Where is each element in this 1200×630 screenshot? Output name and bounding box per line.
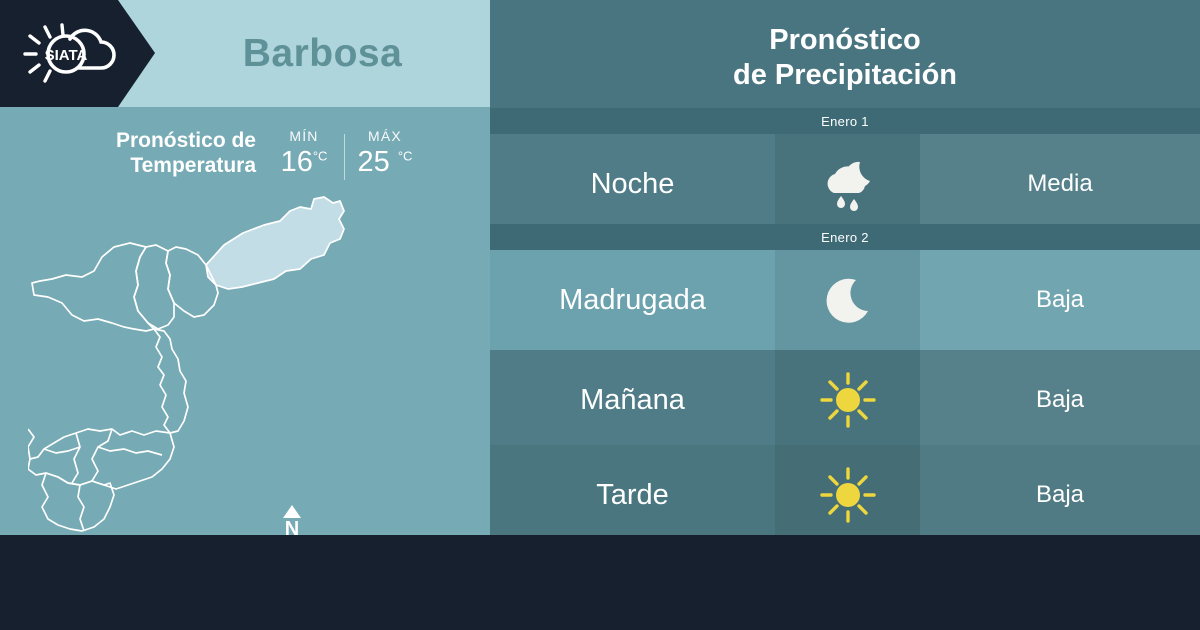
date-band-enero-1: Enero 1 [490,108,1200,134]
map-municipality-medellin [154,329,188,433]
temperature-max-unit: °C [398,148,413,163]
temperature-divider [344,134,345,180]
temperature-max-value-wrap: 25 °C [351,146,419,179]
map-internal-border-5 [78,485,84,531]
moon-icon [775,250,920,350]
temperature-values: MÍN 16°C MÁX 25 °C [270,128,419,180]
cloud-rain-moon-glyph [816,155,880,213]
siata-logo-plate: SIATA [0,0,155,107]
temperature-min: MÍN 16°C [270,128,338,179]
north-indicator: N [278,505,306,539]
map-internal-border-2 [92,429,112,481]
weather-forecast-card: SIATA Barbosa Pronóstico de Temperatura … [0,0,1200,630]
temperature-summary: Pronóstico de Temperatura MÍN 16°C MÁX 2… [0,119,490,189]
forecast-level-manana: Baja [920,350,1200,450]
map-municipality-west-sliver [28,429,34,459]
temperature-title-line1: Pronóstico de [0,129,256,154]
forecast-level-tarde: Baja [920,445,1200,545]
cloud-rain-moon-icon [775,134,920,234]
temperature-min-unit: °C [313,148,328,163]
forecast-row-manana[interactable]: Mañana Baja [490,350,1200,450]
moon-glyph [822,274,874,326]
temperature-title: Pronóstico de Temperatura [0,129,270,179]
forecast-period-noche: Noche [490,134,775,234]
forecast-row-tarde[interactable]: Tarde Baja [490,445,1200,545]
temperature-max-label: MÁX [351,128,419,144]
forecast-period-manana: Mañana [490,350,775,450]
temperature-min-label: MÍN [270,128,338,144]
map-internal-border-3 [44,447,80,453]
map-municipality-caldas [42,473,114,531]
forecast-row-madrugada[interactable]: Madrugada Baja [490,250,1200,350]
forecast-period-tarde: Tarde [490,445,775,545]
forecast-period-madrugada: Madrugada [490,250,775,350]
forecast-row-noche[interactable]: Noche Media [490,134,1200,234]
sun-glyph [819,466,877,524]
left-panel: SIATA Barbosa Pronóstico de Temperatura … [0,0,490,535]
map-municipality-itagui [28,429,174,489]
precipitation-title: Pronóstico de Precipitación [490,8,1200,108]
temperature-min-value: 16 [281,146,313,178]
temperature-max: MÁX 25 °C [351,128,419,179]
map-municipality-bello [32,243,154,331]
temperature-max-value: 25 [358,146,390,178]
map-internal-border-1 [72,433,80,483]
sun-glyph [819,371,877,429]
forecast-level-madrugada: Baja [920,250,1200,350]
footer: @siatamedellin www.siata.gov.co Con el a… [0,535,1200,630]
aburra-valley-map: N [0,185,490,535]
precipitation-title-line2: de Precipitación [733,58,957,93]
precipitation-title-line1: Pronóstico [769,23,920,58]
left-header-band: SIATA Barbosa [0,0,490,107]
date-band-enero-2: Enero 2 [490,224,1200,250]
map-internal-border-4 [98,447,162,455]
map-municipality-barbosa [206,197,344,289]
siata-sun-cloud-logo-icon: SIATA [21,22,129,86]
map-svg [28,185,388,533]
sun-icon [775,445,920,545]
temperature-title-line2: Temperatura [0,154,256,179]
temperature-min-value-wrap: 16°C [270,146,338,179]
north-arrow-icon [283,505,301,518]
left-body: Pronóstico de Temperatura MÍN 16°C MÁX 2… [0,107,490,535]
sun-icon [775,350,920,450]
siata-logo-text: SIATA [44,47,87,64]
city-title: Barbosa [155,0,490,107]
precipitation-panel: Pronóstico de Precipitación Enero 1 Noch… [490,0,1200,535]
forecast-level-noche: Media [920,134,1200,234]
